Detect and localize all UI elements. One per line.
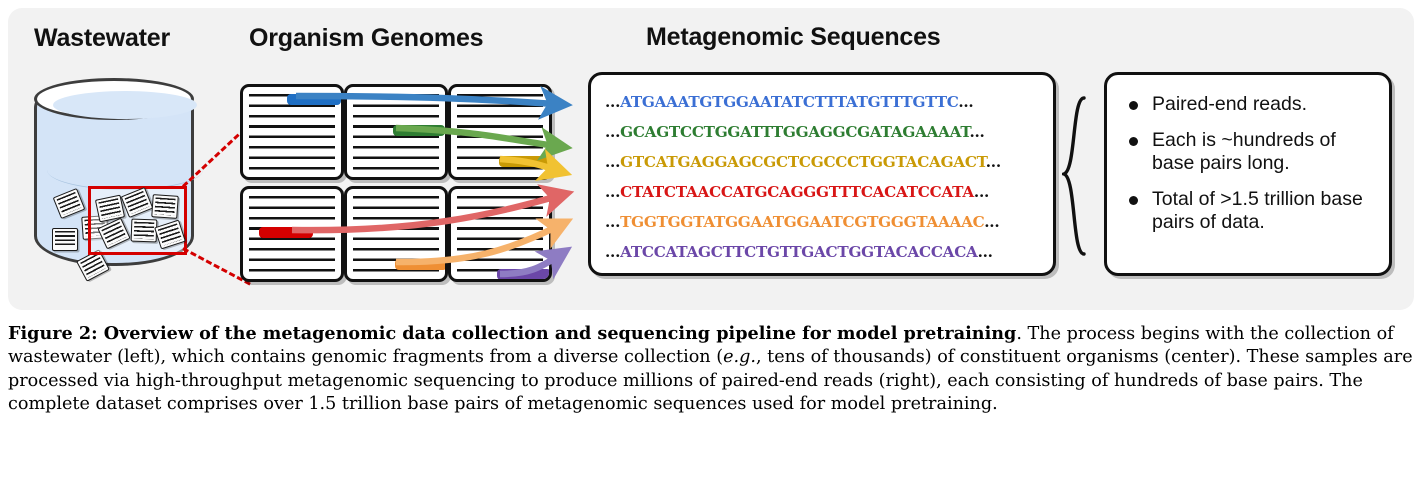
sequence-text: GCAGTCCTGGATTTGGAGGCGATAGAAAAT <box>620 123 969 141</box>
bullet-text: Each is ~hundreds of base pairs long. <box>1152 129 1373 175</box>
sequence-text: ATCCATAGCTTCTGTTGACTGGTACACCACA <box>620 243 977 261</box>
genome-fragment <box>151 194 179 219</box>
sequence-row: ...ATCCATAGCTTCTGTTGACTGGTACACCACA... <box>605 243 993 261</box>
highlight-purple <box>497 269 551 280</box>
bullet-dot-icon <box>1129 196 1138 205</box>
leading-ellipsis: ... <box>605 213 620 231</box>
sequence-text: TGGTGGTATGGAATGGAATCGTGGGTAAAAC <box>620 213 984 231</box>
trailing-ellipsis: ... <box>984 213 999 231</box>
genome-lines <box>457 196 543 273</box>
zoom-highlight-box <box>88 186 187 255</box>
highlight-blue <box>287 94 341 105</box>
genome-card <box>240 186 344 282</box>
trailing-ellipsis: ... <box>974 183 989 201</box>
sequence-row: ...CTATCTAACCATGCAGGGTTTCACATCCATA... <box>605 183 989 201</box>
bullet-dot-icon <box>1129 101 1138 110</box>
trailing-ellipsis: ... <box>958 93 973 111</box>
caption-italic: e.g. <box>723 347 756 367</box>
figure-caption: Figure 2: Overview of the metagenomic da… <box>8 322 1416 417</box>
genome-card <box>240 84 344 180</box>
bullet-item: Each is ~hundreds of base pairs long. <box>1125 129 1373 175</box>
highlight-red <box>259 227 313 238</box>
highlight-green <box>393 125 445 136</box>
figure-root: Wastewater Organism Genomes Metagenomic … <box>0 0 1422 504</box>
bullet-dot-icon <box>1129 137 1138 146</box>
beaker-waterline <box>47 153 203 190</box>
bullet-item: Total of >1.5 trillion base pairs of dat… <box>1125 188 1373 234</box>
genome-lines <box>249 94 335 171</box>
genome-fragment <box>154 220 186 250</box>
heading-metagenomic-sequences: Metagenomic Sequences <box>646 23 941 52</box>
sequence-text: CTATCTAACCATGCAGGGTTTCACATCCATA <box>620 183 974 201</box>
genome-fragment <box>52 228 78 251</box>
beaker-surface <box>53 91 197 119</box>
bullet-text: Total of >1.5 trillion base pairs of dat… <box>1152 188 1373 234</box>
trailing-ellipsis: ... <box>969 123 984 141</box>
trailing-ellipsis: ... <box>986 153 1001 171</box>
genome-card <box>344 84 448 180</box>
genome-card <box>344 186 448 282</box>
leading-ellipsis: ... <box>605 243 620 261</box>
leading-ellipsis: ... <box>605 93 620 111</box>
sequence-row: ...GCAGTCCTGGATTTGGAGGCGATAGAAAAT... <box>605 123 985 141</box>
sequence-row: ...TGGTGGTATGGAATGGAATCGTGGGTAAAAC... <box>605 213 999 231</box>
sequence-text: GTCATGAGGAGCGCTCGCCCTGGTACAGACT <box>620 153 986 171</box>
bullet-item: Paired-end reads. <box>1125 93 1373 116</box>
heading-organism-genomes: Organism Genomes <box>249 24 483 53</box>
bullet-text: Paired-end reads. <box>1152 93 1307 116</box>
sequence-text: ATGAAATGTGGAATATCTTTATGTTTGTTC <box>620 93 958 111</box>
leading-ellipsis: ... <box>605 183 620 201</box>
caption-label: Figure 2: <box>8 323 98 344</box>
genome-card <box>448 84 552 180</box>
highlight-orange <box>395 259 447 270</box>
heading-wastewater: Wastewater <box>34 24 170 53</box>
genome-fragment <box>131 219 158 243</box>
metagenomic-sequences-box: ...ATGAAATGTGGAATATCTTTATGTTTGTTC... ...… <box>588 72 1056 276</box>
sequence-row: ...ATGAAATGTGGAATATCTTTATGTTTGTTC... <box>605 93 973 111</box>
genome-fragment <box>97 218 130 250</box>
sequence-row: ...GTCATGAGGAGCGCTCGCCCTGGTACAGACT... <box>605 153 1001 171</box>
beaker-rim <box>34 78 194 120</box>
leading-ellipsis: ... <box>605 123 620 141</box>
highlight-yellow <box>499 156 549 167</box>
read-properties-box: Paired-end reads. Each is ~hundreds of b… <box>1104 72 1392 276</box>
trailing-ellipsis: ... <box>978 243 993 261</box>
genome-card <box>448 186 552 282</box>
caption-title: Overview of the metagenomic data collect… <box>104 323 1017 344</box>
curly-brace-icon <box>1062 96 1088 256</box>
genome-fragment <box>121 187 154 218</box>
leading-ellipsis: ... <box>605 153 620 171</box>
